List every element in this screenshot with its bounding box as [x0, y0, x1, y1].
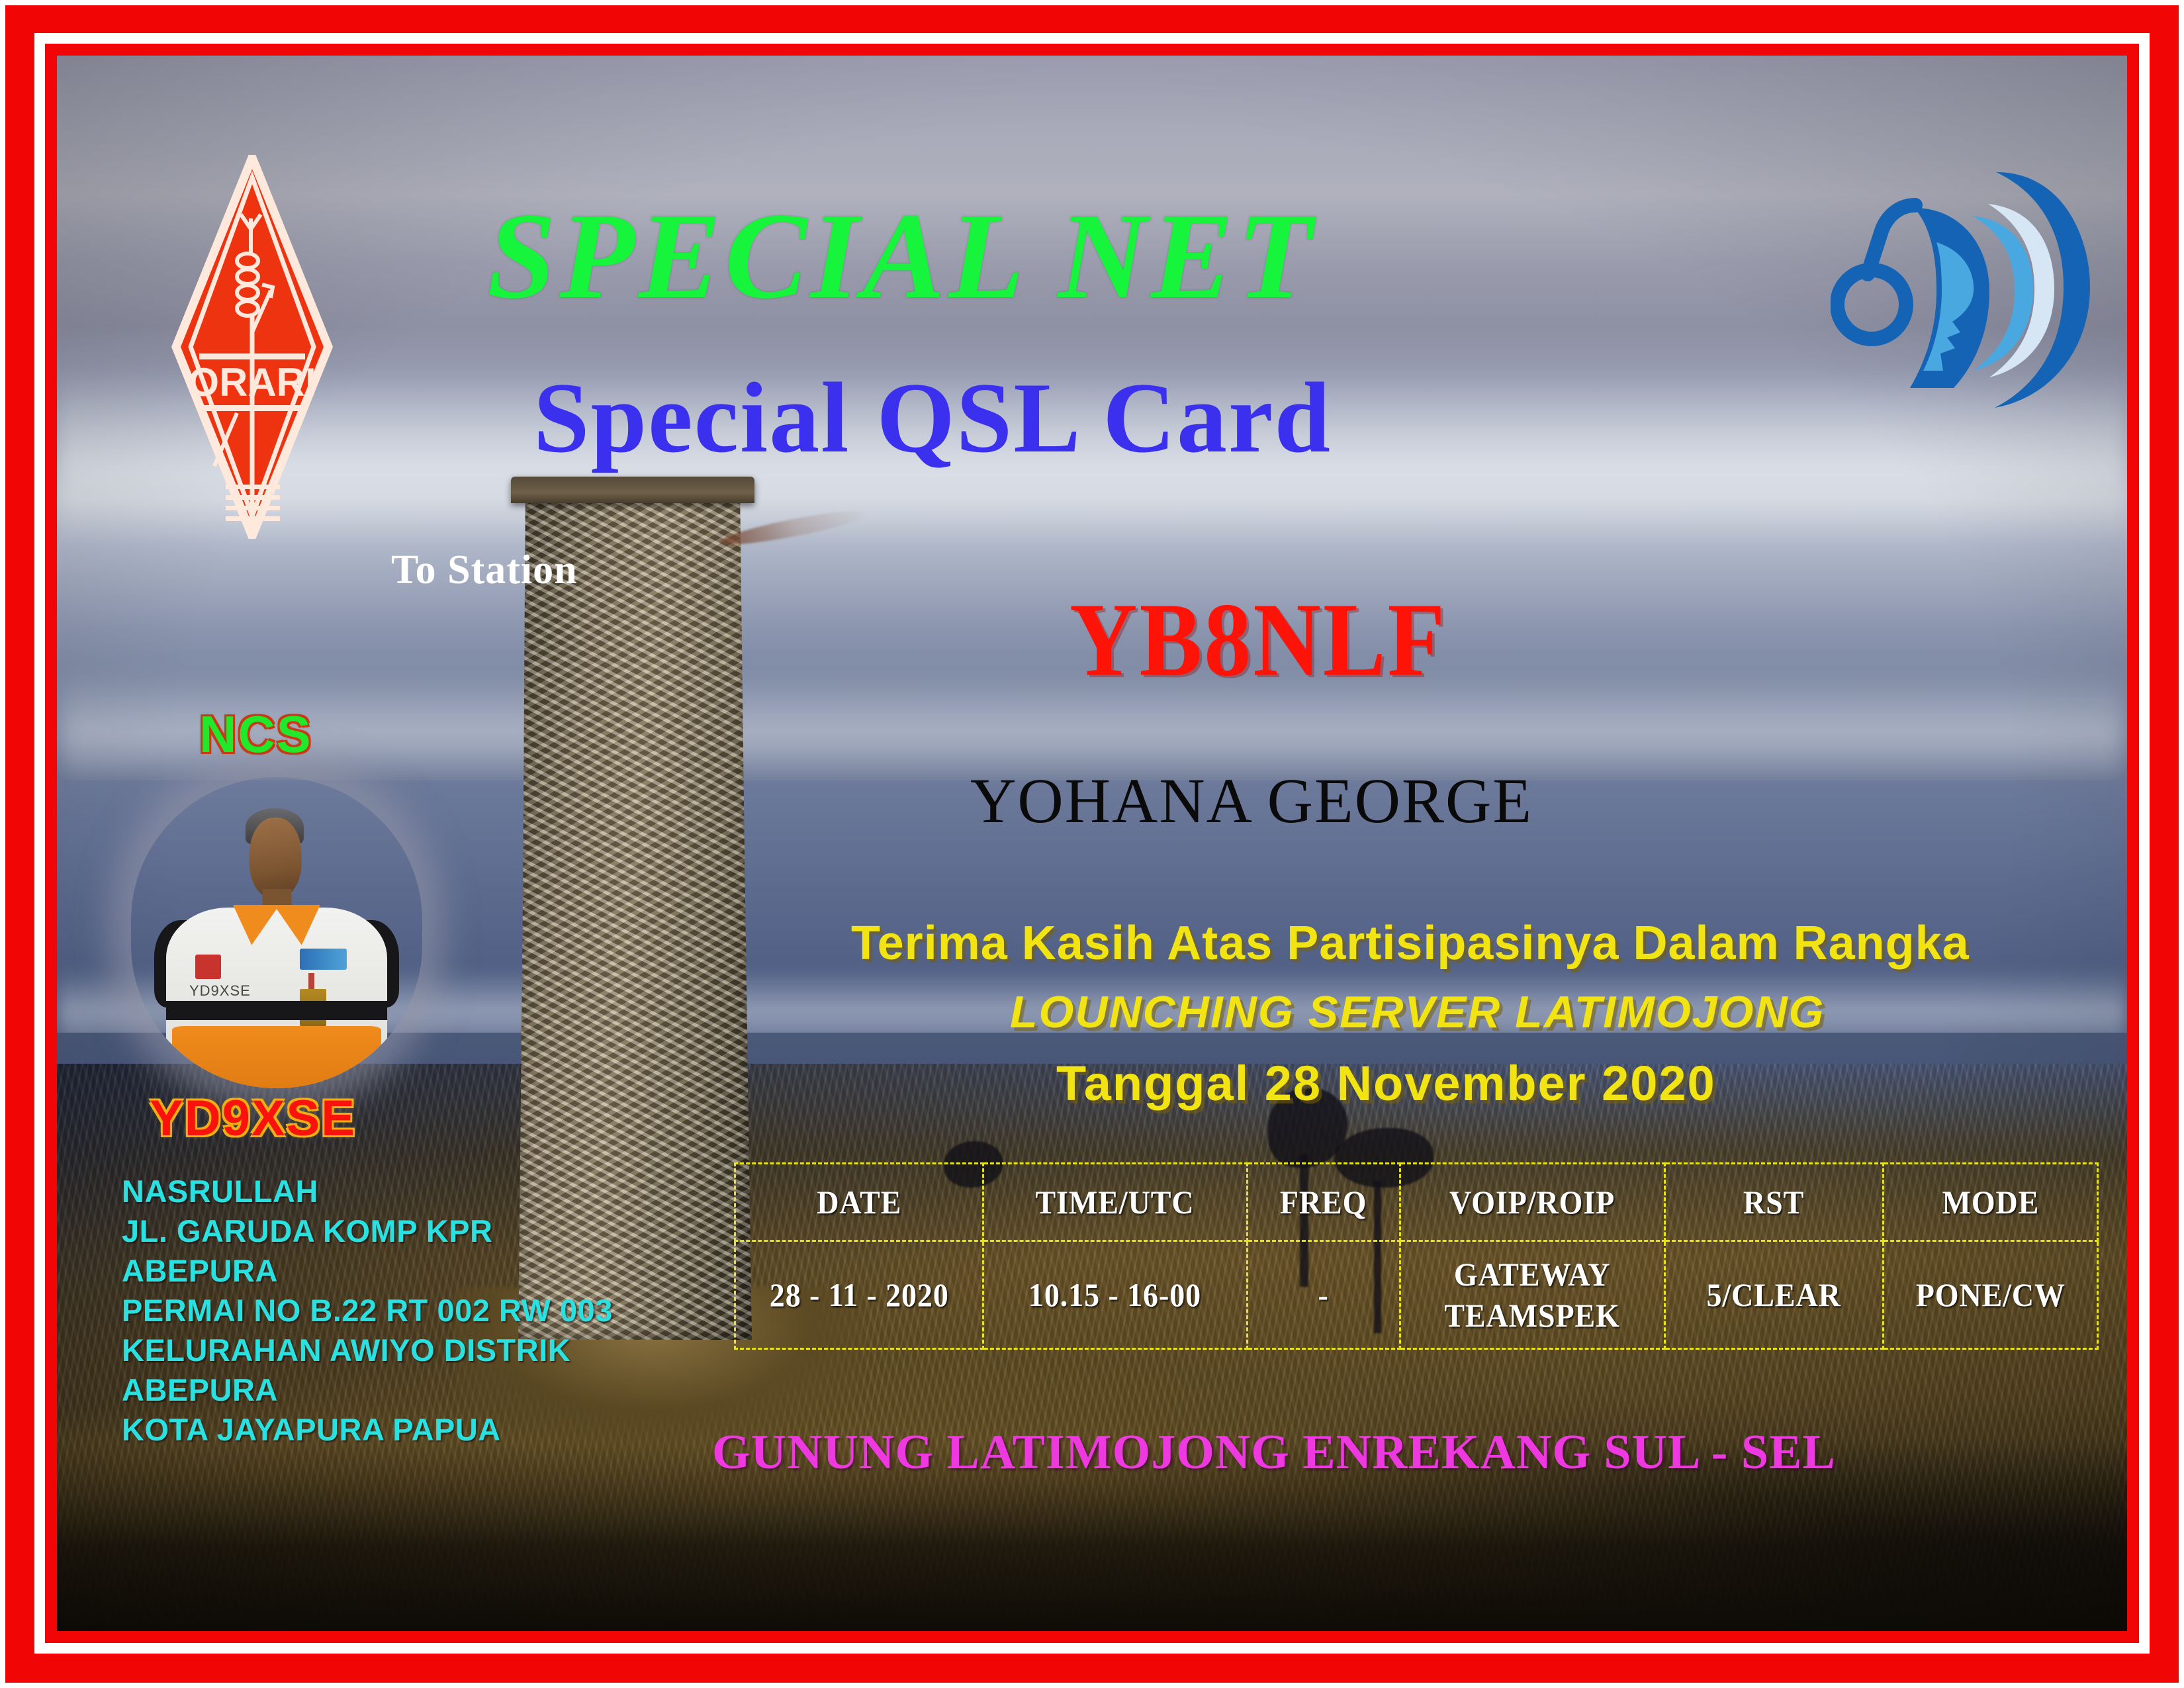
portrait-shirt-callsign: YD9XSE — [189, 982, 251, 1000]
page-subtitle-qsl-card: Special QSL Card — [533, 360, 1332, 475]
thanks-line: Terima Kasih Atas Partisipasinya Dalam R… — [851, 916, 1970, 970]
ncs-callsign: YD9XSE — [150, 1090, 356, 1147]
portrait-uniform-stripe — [166, 1001, 387, 1019]
to-station-label: To Station — [391, 547, 578, 594]
website-address: Address : amatir.latimojong.com — [1334, 1630, 2030, 1631]
cell-time: 10.15 - 16-00 — [993, 1241, 1236, 1349]
column-header-time: TIME/UTC — [993, 1164, 1236, 1241]
background-photograph: ORARI — [57, 56, 2127, 1631]
cell-rst: 5/CLEAR — [1674, 1241, 1875, 1349]
column-header-mode: MODE — [1892, 1164, 2089, 1241]
qsl-card: ORARI — [0, 0, 2184, 1688]
cell-voip-line2: TEAMSPEK — [1445, 1297, 1621, 1334]
address-line: KELURAHAN AWIYO DISTRIK — [122, 1331, 613, 1370]
portrait-uniform-orange — [172, 1026, 382, 1088]
event-line: LOUNCHING SERVER LATIMOJONG — [1010, 986, 1825, 1038]
ncs-role-label: NCS — [199, 704, 312, 765]
qso-log-table: DATE TIME/UTC FREQ VOIP/ROIP RST MODE 28… — [734, 1162, 2099, 1350]
portrait-face — [249, 818, 301, 898]
mailing-address: NASRULLAH JL. GARUDA KOMP KPR ABEPURA PE… — [122, 1172, 613, 1450]
column-header-rst: RST — [1674, 1164, 1875, 1241]
location-line: GUNUNG LATIMOJONG ENREKANG SUL - SEL — [712, 1425, 1836, 1481]
event-date-line: Tanggal 28 November 2020 — [1056, 1055, 1716, 1111]
cell-mode: PONE/CW — [1892, 1241, 2089, 1349]
table-row: 28 - 11 - 2020 10.15 - 16-00 - GATEWAY T… — [735, 1241, 2098, 1349]
motto-text: "AMATIR RADIO ADALAH PROGRESIVE" — [135, 1630, 1109, 1631]
orari-logo-text: ORARI — [188, 360, 316, 404]
orari-logo: ORARI — [163, 155, 341, 539]
operator-name: YOHANA GEORGE — [970, 764, 1533, 837]
address-line: JL. GARUDA KOMP KPR — [122, 1211, 613, 1251]
page-title-special-net: SPECIAL NET — [487, 185, 1316, 327]
cell-freq: - — [1253, 1241, 1394, 1349]
table-header-row: DATE TIME/UTC FREQ VOIP/ROIP RST MODE — [735, 1164, 2098, 1241]
address-line: ABEPURA — [122, 1370, 613, 1410]
cell-voip: GATEWAY TEAMSPEK — [1410, 1241, 1654, 1349]
column-header-freq: FREQ — [1253, 1164, 1394, 1241]
station-callsign: YB8NLF — [1069, 579, 1447, 700]
portrait-badge-right — [300, 949, 346, 970]
radio-headset-face-logo — [1831, 155, 2095, 420]
cell-voip-line1: GATEWAY — [1454, 1256, 1611, 1293]
address-line: KOTA JAYAPURA PAPUA — [122, 1410, 613, 1450]
column-header-voip: VOIP/ROIP — [1410, 1164, 1654, 1241]
portrait-badge-left — [195, 955, 222, 980]
column-header-date: DATE — [745, 1164, 973, 1241]
address-line: NASRULLAH — [122, 1172, 613, 1211]
cell-date: 28 - 11 - 2020 — [745, 1241, 973, 1349]
ncs-operator-photo: YD9XSE — [131, 777, 422, 1088]
address-line: PERMAI NO B.22 RT 002 RW 003 — [122, 1291, 613, 1331]
address-line: ABEPURA — [122, 1251, 613, 1291]
